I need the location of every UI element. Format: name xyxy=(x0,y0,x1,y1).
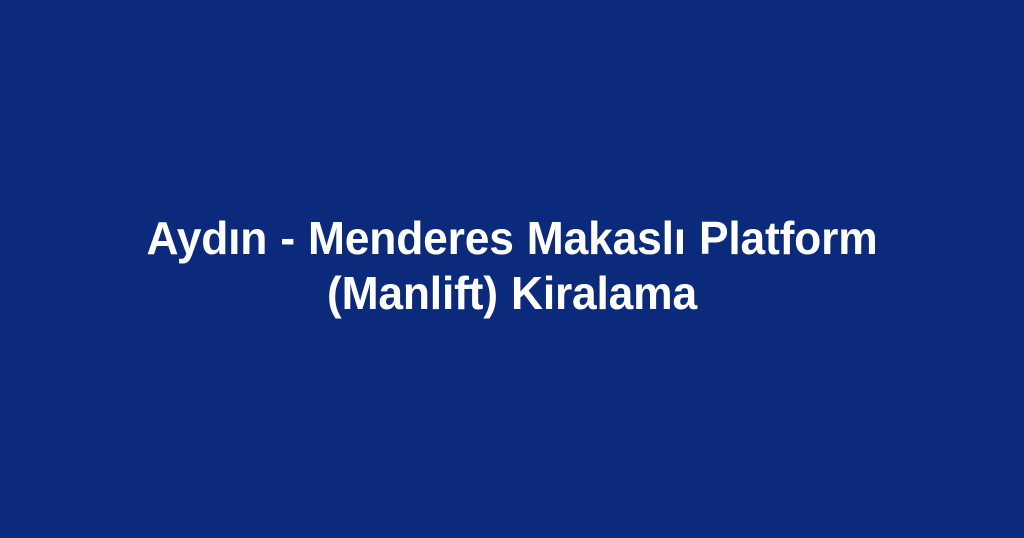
headline-line-2: (Manlift) Kiralama xyxy=(57,266,968,321)
headline-block: Aydın - Menderes Makaslı Platform (Manli… xyxy=(18,211,1006,321)
headline-line-1: Aydın - Menderes Makaslı Platform xyxy=(57,211,968,266)
banner-canvas: Aydın - Menderes Makaslı Platform (Manli… xyxy=(0,0,1024,538)
